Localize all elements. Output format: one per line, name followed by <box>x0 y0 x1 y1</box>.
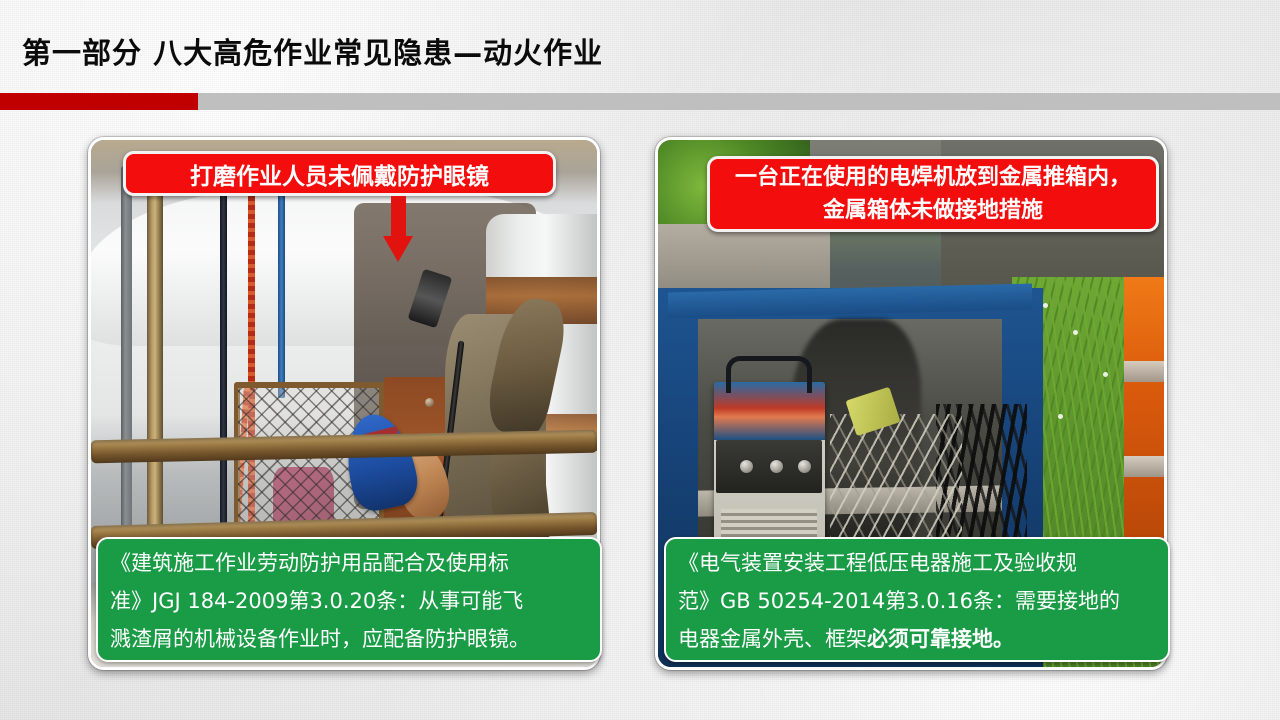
callout-line: 打磨作业人员未佩戴防护眼镜 <box>190 157 489 191</box>
caption-line-text: 电器金属外壳、框架 <box>678 627 867 651</box>
vest-reflective-stripe <box>1124 456 1164 477</box>
orange-safety-vest <box>1124 277 1164 551</box>
callout-line: 金属箱体未做接地措施 <box>823 194 1043 227</box>
callout-line: 一台正在使用的电焊机放到金属推箱内， <box>735 161 1131 194</box>
down-arrow-icon <box>383 196 413 262</box>
header-accent-bar-gray <box>198 93 1280 110</box>
callout-banner-right: 一台正在使用的电焊机放到金属推箱内， 金属箱体未做接地措施 <box>707 156 1159 232</box>
control-knob <box>739 459 754 474</box>
caption-line: 《建筑施工作业劳动防护用品配合及使用标 <box>110 544 588 582</box>
caption-line: 《电气装置安装工程低压电器施工及验收规 <box>678 544 1156 582</box>
blue-bar <box>278 187 285 398</box>
welding-machine-handle <box>726 356 812 393</box>
caption-box-right: 《电气装置安装工程低压电器施工及验收规 范》GB 50254-2014第3.0.… <box>664 537 1170 662</box>
callout-banner-left: 打磨作业人员未佩戴防护眼镜 <box>123 151 556 196</box>
flower-dot <box>1058 414 1063 419</box>
caption-box-left: 《建筑施工作业劳动防护用品配合及使用标 准》JGJ 184-2009第3.0.2… <box>96 537 602 662</box>
caption-line-with-emphasis: 电器金属外壳、框架必须可靠接地。 <box>678 620 1156 658</box>
arrow-head <box>383 236 413 262</box>
flower-dot <box>1073 330 1078 335</box>
black-hose <box>220 193 227 541</box>
arrow-stem <box>391 196 406 238</box>
caption-line: 溅渣屑的机械设备作业时，应配备防护眼镜。 <box>110 620 588 658</box>
caption-line: 范》GB 50254-2014第3.0.16条：需要接地的 <box>678 582 1156 620</box>
vest-reflective-stripe <box>1124 361 1164 382</box>
header-accent-bar-red <box>0 93 198 110</box>
control-knob <box>797 459 812 474</box>
caption-line: 准》JGJ 184-2009第3.0.20条：从事可能飞 <box>110 582 588 620</box>
page-title: 第一部分 八大高危作业常见隐患—动火作业 <box>22 30 603 72</box>
flower-dot <box>1043 303 1048 308</box>
caption-emphasis-text: 必须可靠接地。 <box>867 627 1014 651</box>
